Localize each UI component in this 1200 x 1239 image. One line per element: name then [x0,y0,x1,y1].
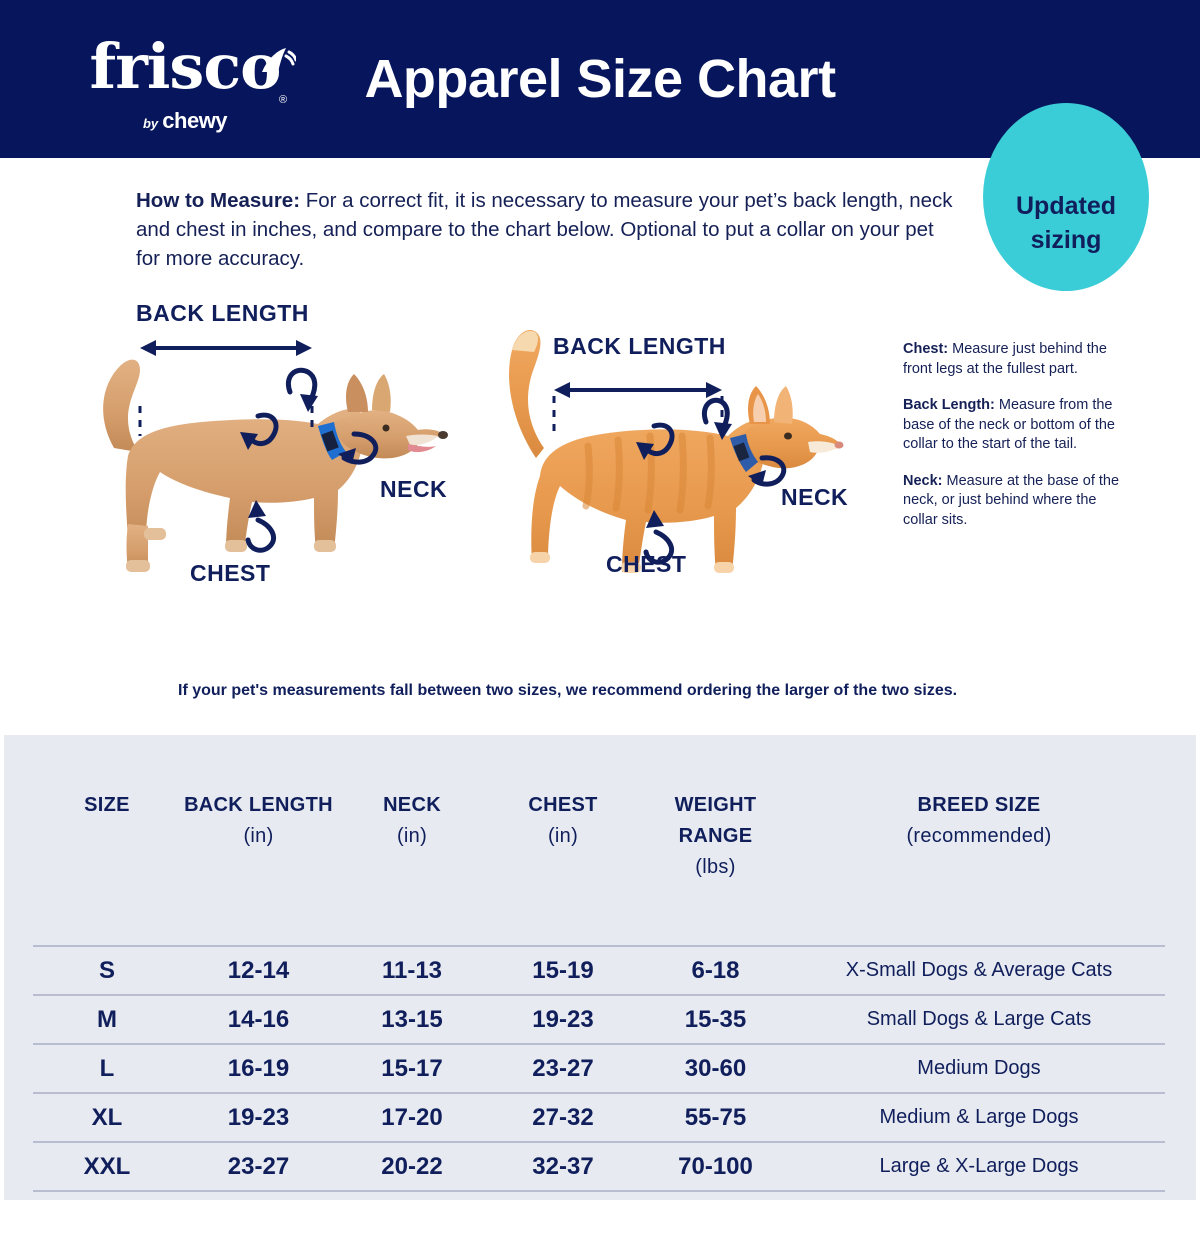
cell-back-length: 12-14 [181,946,336,995]
col-header-size-label: SIZE [84,794,130,816]
logo-subbrand: by chewy [60,108,310,134]
cell-chest: 15-19 [488,946,638,995]
cell-weight: 6-18 [638,946,793,995]
col-header-chest-label: CHEST [528,794,597,816]
size-table-section: SIZE BACK LENGTH (in) NECK (in) CHEST (i… [0,735,1200,1200]
cell-back-length: 23-27 [181,1142,336,1191]
cell-breed: Medium Dogs [793,1044,1165,1093]
note-back-length-term: Back Length: [903,397,995,413]
note-back-length: Back Length: Measure from the base of th… [903,396,1135,455]
col-header-neck: NECK (in) [336,735,488,946]
cell-neck: 15-17 [336,1044,488,1093]
dog-chest-label: CHEST [190,560,270,587]
note-neck-term: Neck: [903,473,943,489]
cell-back-length: 19-23 [181,1093,336,1142]
col-header-back-length-unit: (in) [243,825,273,847]
cell-breed: Small Dogs & Large Cats [793,995,1165,1044]
registered-mark: ® [279,94,287,106]
dog-illustration: BACK LENGTH NECK CHEST [62,288,482,628]
logo-by-text: by [143,116,158,131]
col-header-breed-size: BREED SIZE (recommended) [793,735,1165,946]
cell-weight: 15-35 [638,995,793,1044]
col-header-back-length: BACK LENGTH (in) [181,735,336,946]
cell-neck: 11-13 [336,946,488,995]
table-row: S 12-14 11-13 15-19 6-18 X-Small Dogs & … [33,946,1165,995]
col-header-back-length-label: BACK LENGTH [184,794,333,816]
cell-size: M [33,995,181,1044]
cell-neck: 17-20 [336,1093,488,1142]
size-chart-table: SIZE BACK LENGTH (in) NECK (in) CHEST (i… [33,735,1165,1239]
table-row: XL 19-23 17-20 27-32 55-75 Medium & Larg… [33,1093,1165,1142]
badge-line-1: Updated [1016,189,1116,223]
cell-chest: 23-27 [488,1044,638,1093]
cell-size: S [33,946,181,995]
col-header-chest: CHEST (in) [488,735,638,946]
cell-weight: 55-75 [638,1093,793,1142]
cat-chest-label: CHEST [606,551,686,578]
frisco-logo: frisco ® by chewy [60,28,310,138]
cat-neck-label: NECK [781,484,848,511]
cell-back-length: 16-19 [181,1044,336,1093]
cell-size: XXL [33,1142,181,1191]
col-header-breed-size-label: BREED SIZE [917,794,1040,816]
table-bottom-divider-cell [33,1191,1165,1239]
col-header-breed-size-unit: (recommended) [906,825,1051,847]
col-header-size: SIZE [33,735,181,946]
table-bottom-divider [33,1191,1165,1239]
col-header-weight-range-unit: (lbs) [695,856,735,878]
logo-tail-icon [256,42,296,82]
note-chest: Chest: Measure just behind the front leg… [903,340,1135,379]
cell-chest: 27-32 [488,1093,638,1142]
cell-breed: Medium & Large Dogs [793,1093,1165,1142]
cell-neck: 13-15 [336,995,488,1044]
cell-back-length: 14-16 [181,995,336,1044]
note-neck: Neck: Measure at the base of the neck, o… [903,472,1135,531]
measurement-notes: Chest: Measure just behind the front leg… [903,340,1135,547]
cell-weight: 30-60 [638,1044,793,1093]
logo-chewy-text: chewy [162,108,227,133]
table-row: L 16-19 15-17 23-27 30-60 Medium Dogs [33,1044,1165,1093]
sizing-footnote: If your pet's measurements fall between … [178,682,1038,700]
cell-chest: 32-37 [488,1142,638,1191]
table-body: S 12-14 11-13 15-19 6-18 X-Small Dogs & … [33,946,1165,1239]
table-row: M 14-16 13-15 19-23 15-35 Small Dogs & L… [33,995,1165,1044]
col-header-weight-range-label: WEIGHT RANGE [675,794,757,847]
dog-neck-label: NECK [380,476,447,503]
cell-chest: 19-23 [488,995,638,1044]
note-chest-term: Chest: [903,341,948,357]
cat-back-length-label: BACK LENGTH [553,333,726,360]
col-header-weight-range: WEIGHT RANGE (lbs) [638,735,793,946]
col-header-neck-label: NECK [383,794,441,816]
cat-illustration: BACK LENGTH NECK CHEST [478,296,908,626]
table-header: SIZE BACK LENGTH (in) NECK (in) CHEST (i… [33,735,1165,946]
cell-weight: 70-100 [638,1142,793,1191]
cell-breed: Large & X-Large Dogs [793,1142,1165,1191]
cell-neck: 20-22 [336,1142,488,1191]
badge-line-2: sizing [1031,223,1102,257]
col-header-chest-unit: (in) [548,825,578,847]
table-row: XXL 23-27 20-22 32-37 70-100 Large & X-L… [33,1142,1165,1191]
cell-size: XL [33,1093,181,1142]
table-header-row: SIZE BACK LENGTH (in) NECK (in) CHEST (i… [33,735,1165,946]
dog-figure-icon [62,288,482,628]
cell-size: L [33,1044,181,1093]
how-to-measure-paragraph: How to Measure: For a correct fit, it is… [136,186,956,273]
updated-sizing-badge: Updated sizing [983,103,1149,291]
dog-back-length-label: BACK LENGTH [136,300,309,327]
col-header-neck-unit: (in) [397,825,427,847]
cell-breed: X-Small Dogs & Average Cats [793,946,1165,995]
how-to-measure-label: How to Measure: [136,189,300,212]
